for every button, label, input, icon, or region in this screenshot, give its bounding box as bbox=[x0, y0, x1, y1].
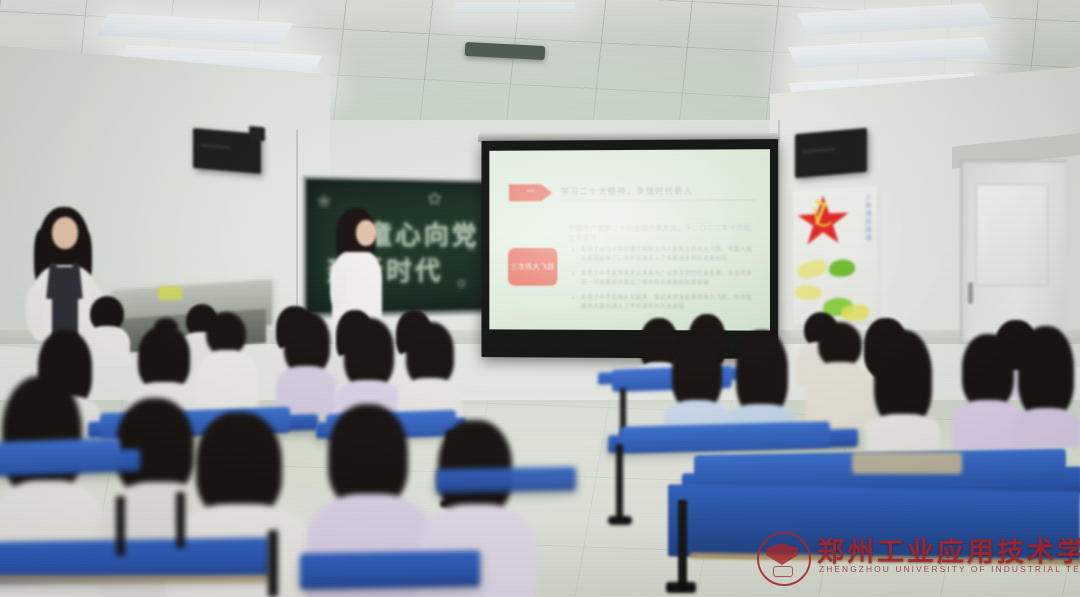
hair-bun-top bbox=[154, 318, 178, 336]
poster-paint-blot bbox=[796, 258, 829, 281]
student-mid bbox=[866, 330, 940, 446]
chair-back bbox=[0, 438, 120, 473]
hair bbox=[672, 336, 722, 410]
speaker-grille bbox=[200, 144, 231, 150]
classroom-photo: 童心向党 建新时代 ❀ ✿ ❀ ✿ 一 学习二十大精神，争做时代新人 中国共产党… bbox=[0, 0, 1080, 597]
speaker-grille bbox=[802, 147, 834, 153]
poster-paint-blot bbox=[794, 284, 822, 300]
projection-screen-surface: 一 学习二十大精神，争做时代新人 中国共产党第二十次全国代表大会，于二〇二二年十… bbox=[489, 149, 770, 330]
ceiling-light-panel bbox=[454, 2, 575, 14]
student-mid bbox=[806, 322, 874, 426]
student-mid bbox=[276, 312, 336, 410]
slide-bullet-item: 实现了从几千年封建专制政治向人民民主的伟大飞跃，中国人民从此站起来了，中华民族进… bbox=[572, 246, 756, 263]
door-window bbox=[976, 184, 1048, 286]
chalk-doodle-icon: ❀ bbox=[466, 239, 476, 255]
hair bbox=[284, 312, 330, 374]
student-mid bbox=[664, 336, 730, 438]
desk-leg bbox=[116, 496, 125, 556]
wall-poster: 少年强则国强 bbox=[793, 186, 877, 325]
slide-headline: 学习二十大精神，争做时代新人 bbox=[560, 185, 755, 202]
desk-wear-patch bbox=[852, 452, 962, 474]
desk-leg bbox=[678, 500, 687, 590]
desk-leg bbox=[616, 444, 623, 520]
shirt bbox=[806, 362, 874, 430]
student-mid bbox=[1014, 326, 1080, 444]
desk-leg bbox=[176, 492, 185, 548]
shirt bbox=[866, 414, 940, 452]
hair bbox=[328, 404, 408, 508]
slide-section-tag: 一 bbox=[509, 184, 552, 201]
slide-badge: 三次伟大飞跃 bbox=[508, 248, 557, 286]
student-mid bbox=[196, 312, 258, 408]
desk-edge-trim bbox=[0, 576, 270, 582]
face bbox=[356, 220, 376, 246]
left-wall-speaker bbox=[193, 128, 261, 174]
poster-vertical-text: 少年强则国强 bbox=[862, 194, 872, 243]
hair bbox=[874, 330, 932, 426]
classroom-door[interactable] bbox=[960, 160, 1067, 344]
slide-bullet-item: 实现了中华民族有史以来最为广泛而深刻的社会变革，为当代中国一切发展进步奠定了根本… bbox=[572, 270, 756, 287]
door-handle[interactable] bbox=[968, 282, 973, 304]
poster-leaf-icon bbox=[829, 259, 855, 277]
foreground-desk-top bbox=[668, 484, 1080, 563]
podium-object bbox=[158, 286, 182, 300]
hair bbox=[2, 376, 82, 496]
hair bbox=[962, 334, 1014, 408]
arm bbox=[26, 287, 42, 333]
projection-screen-frame: 一 学习二十大精神，争做时代新人 中国共产党第二十次全国代表大会，于二〇二二年十… bbox=[481, 139, 778, 359]
foreground-desk-center bbox=[300, 550, 480, 589]
hair bbox=[1018, 326, 1074, 418]
hair bbox=[196, 412, 282, 518]
right-wall-speaker bbox=[795, 128, 867, 178]
slide-bullet-list: 实现了从几千年封建专制政治向人民民主的伟大飞跃，中国人民从此站起来了，中华民族进… bbox=[572, 246, 756, 319]
desk-foot bbox=[608, 516, 632, 525]
wall-corner-seam bbox=[778, 120, 780, 350]
desk bbox=[436, 467, 576, 493]
desk-foot bbox=[666, 582, 696, 593]
presentation-slide: 一 学习二十大精神，争做时代新人 中国共产党第二十次全国代表大会，于二〇二二年十… bbox=[489, 149, 770, 330]
slide-bullet-item: 实现了中华民族从站起来、富起来到强起来的伟大飞跃，中华民族伟大复兴进入了不可逆转… bbox=[572, 294, 756, 312]
hair bbox=[344, 318, 394, 388]
speaker-bracket bbox=[249, 126, 265, 141]
chalk-doodle-icon: ✿ bbox=[457, 276, 467, 290]
hair bbox=[406, 322, 454, 386]
slide-subtitle: 中国共产党第二十次全国代表大会，于二〇二二年十月在北京召开 bbox=[568, 222, 751, 242]
desk-leg bbox=[268, 530, 278, 597]
chair-back bbox=[620, 421, 830, 452]
face bbox=[52, 217, 78, 249]
chalk-flower-icon: ✿ bbox=[428, 189, 442, 209]
lavender-shirt bbox=[1014, 408, 1080, 448]
